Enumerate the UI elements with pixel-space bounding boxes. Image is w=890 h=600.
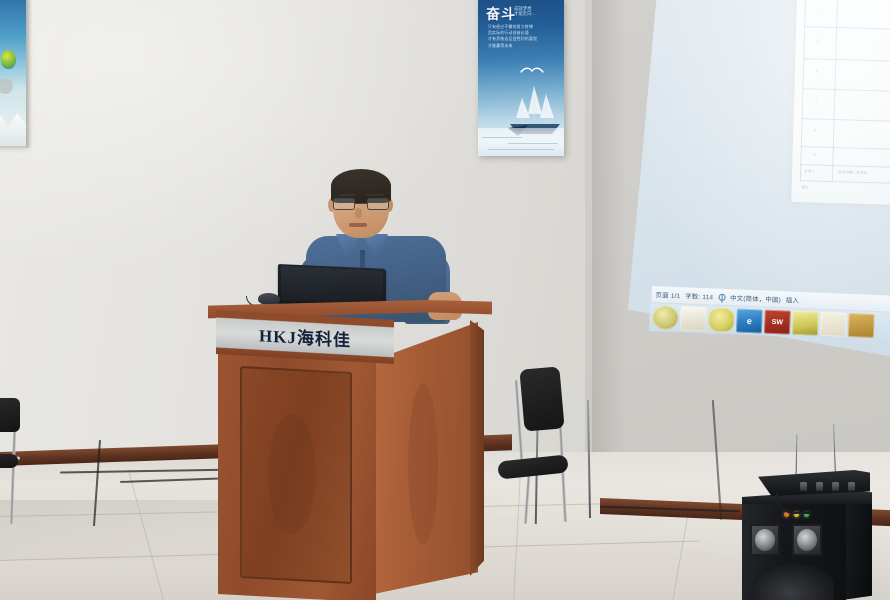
poster-struggle: 奋斗 成就梦想 才能走向… 只有经过不懈的努力拼搏 用实际的行动创造价值 才有资… — [478, 0, 564, 156]
chair-seat — [0, 454, 18, 468]
nose — [355, 208, 362, 218]
poster-left — [0, 0, 26, 146]
mountain-graphic — [0, 106, 26, 146]
mouth — [349, 223, 367, 227]
tweeter-cone — [797, 529, 817, 551]
tweeter-cone — [755, 529, 775, 551]
tweeter-right — [792, 524, 822, 556]
wall-corner-shadow — [592, 0, 626, 500]
speaker-cabinet-side — [842, 494, 872, 600]
poster-left-shadow — [26, 0, 32, 148]
media-player-icon[interactable] — [652, 305, 679, 330]
glasses-bridge — [355, 203, 367, 204]
hot-air-balloon-graphic — [1, 50, 16, 69]
folder-icon[interactable] — [792, 311, 819, 336]
folding-chair-right — [500, 366, 592, 526]
chair-backrest — [0, 398, 20, 432]
wireless-receiver — [758, 470, 870, 496]
seagull-icon — [520, 64, 544, 76]
document-icon[interactable] — [680, 306, 707, 331]
receiver-knob[interactable] — [800, 482, 807, 491]
status-page: 页面 1/1 — [655, 290, 680, 300]
photo-scene: 奋斗 成就梦想 才能走向… 只有经过不懈的努力拼搏 用实际的行动创造价值 才有资… — [0, 0, 890, 600]
app-icon[interactable] — [848, 313, 875, 338]
poster-body-text: 只有经过不懈的努力拼搏 用实际的行动创造价值 才有资格去品尝胜利的喜悦 才能赢得… — [488, 24, 550, 49]
wave-line — [508, 143, 558, 144]
receiver-knob[interactable] — [832, 482, 839, 491]
excel-icon[interactable] — [820, 312, 847, 337]
status-insert-mode: 插入 — [786, 295, 800, 305]
tweeter-left — [750, 524, 780, 556]
receiver-knob[interactable] — [848, 482, 855, 491]
lens-left — [333, 198, 355, 210]
poster-subtitle: 成就梦想 才能走向… — [514, 6, 536, 16]
eyebrow-right — [366, 194, 384, 196]
poster-title: 奋斗 — [486, 4, 516, 24]
pa-speaker — [736, 468, 874, 600]
lectern: HKJ海科佳 — [208, 294, 508, 600]
receiver-knob[interactable] — [816, 482, 823, 491]
chair-seat — [497, 454, 568, 479]
status-language: 中文(简体，中国) — [730, 293, 781, 304]
solidworks-icon[interactable]: SW — [764, 310, 791, 335]
chair-backrest — [519, 366, 564, 431]
eyeglasses-icon — [333, 198, 391, 210]
woofer — [752, 564, 834, 600]
language-globe-icon — [718, 293, 725, 300]
wall-light-sheen — [0, 0, 560, 300]
sea-graphic — [478, 128, 564, 156]
shield-icon[interactable] — [708, 307, 735, 332]
wave-line — [482, 137, 522, 138]
lens-right — [367, 198, 389, 210]
lectern-side-edge — [470, 320, 484, 576]
status-word-count: 字数: 114 — [685, 291, 713, 301]
wave-line — [488, 149, 554, 150]
eyebrow-left — [338, 194, 356, 196]
folding-chair-left — [0, 398, 42, 528]
internet-explorer-icon[interactable]: e — [736, 308, 763, 333]
sun-graphic — [0, 78, 13, 94]
